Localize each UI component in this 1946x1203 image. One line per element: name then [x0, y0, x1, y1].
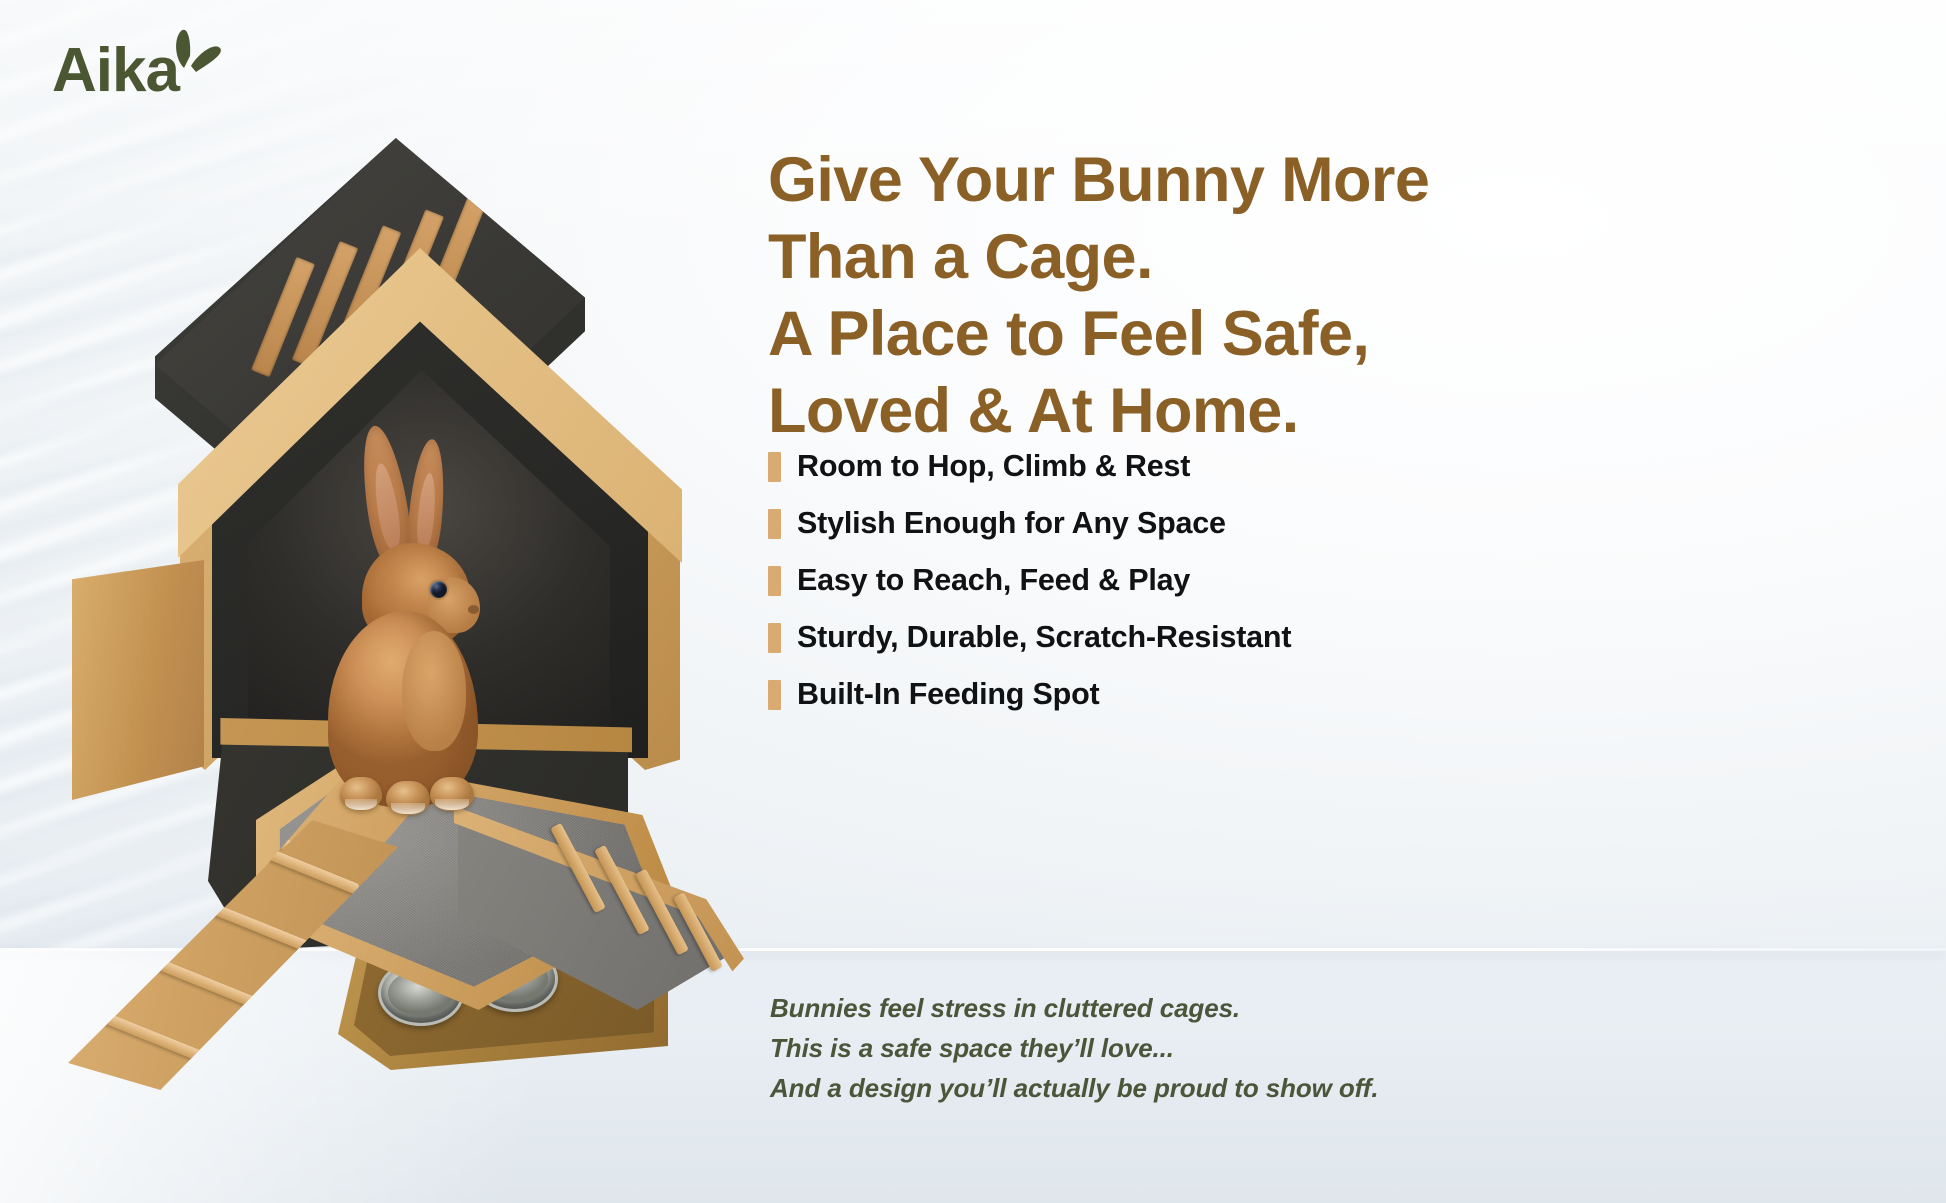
bullet-marker-icon — [768, 623, 781, 653]
product-illustration — [60, 120, 760, 1070]
list-item: Sturdy, Durable, Scratch-Resistant — [768, 609, 1768, 666]
rabbit-paw-back-right — [430, 777, 474, 811]
poster-canvas: Aika — [0, 0, 1946, 1203]
ramp-rung — [150, 956, 264, 1010]
headline-line-1: Give Your Bunny More — [768, 142, 1898, 219]
brand-logo-text: Aika — [52, 36, 179, 105]
ramp-rung — [198, 898, 312, 952]
list-item: Built-In Feeding Spot — [768, 666, 1768, 723]
list-item-label: Stylish Enough for Any Space — [797, 506, 1226, 541]
feature-list: Room to Hop, Climb & Rest Stylish Enough… — [768, 438, 1768, 723]
list-item-label: Built-In Feeding Spot — [797, 677, 1099, 712]
bullet-marker-icon — [768, 680, 781, 710]
rabbit-paw-tip — [435, 799, 468, 809]
list-item: Easy to Reach, Feed & Play — [768, 552, 1768, 609]
bunny-ears-icon — [164, 28, 228, 90]
list-item: Room to Hop, Climb & Rest — [768, 438, 1768, 495]
rabbit-chest — [402, 631, 466, 751]
rabbit-eye — [430, 581, 447, 598]
rabbit-paw-tip — [345, 799, 377, 809]
page-title: Give Your Bunny More Than a Cage. A Plac… — [768, 142, 1898, 449]
closing-note: Bunnies feel stress in cluttered cages. … — [770, 988, 1820, 1108]
brand-logo: Aika — [52, 40, 179, 102]
ramp-rung — [102, 1012, 216, 1066]
note-line-1: Bunnies feel stress in cluttered cages. — [770, 988, 1820, 1028]
list-item-label: Room to Hop, Climb & Rest — [797, 449, 1190, 484]
rabbit-paw-front-right — [386, 781, 430, 815]
rabbit-ear-inner — [371, 462, 404, 550]
list-item-label: Sturdy, Durable, Scratch-Resistant — [797, 620, 1291, 655]
bullet-marker-icon — [768, 566, 781, 596]
rabbit-paw-tip — [391, 803, 424, 813]
bullet-marker-icon — [768, 509, 781, 539]
list-item: Stylish Enough for Any Space — [768, 495, 1768, 552]
rabbit-paw-front-left — [340, 777, 382, 811]
note-line-3: And a design you’ll actually be proud to… — [770, 1068, 1820, 1108]
list-item-label: Easy to Reach, Feed & Play — [797, 563, 1190, 598]
copy-column: Give Your Bunny More Than a Cage. A Plac… — [760, 0, 1946, 1203]
rabbit-ear-inner — [415, 473, 438, 551]
headline-line-2: Than a Cage. — [768, 219, 1898, 296]
left-wood-wing-panel — [72, 560, 204, 800]
rabbit-photo — [310, 425, 495, 825]
bullet-marker-icon — [768, 452, 781, 482]
note-line-2: This is a safe space they’ll love... — [770, 1028, 1820, 1068]
rabbit-nose — [468, 605, 479, 614]
headline-line-3: A Place to Feel Safe, — [768, 296, 1898, 373]
